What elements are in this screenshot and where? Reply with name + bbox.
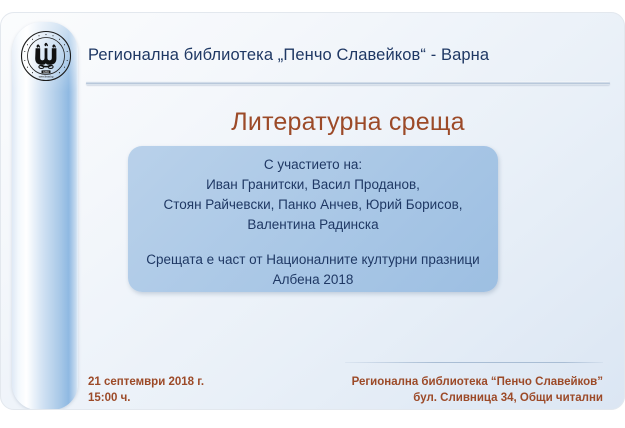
event-details-box: С участието на: Иван Гранитски, Васил Пр… [128,146,498,292]
venue-address: бул. Сливница 34, Общи читални [335,390,603,406]
footer-divider [345,362,603,363]
library-emblem-icon: 1883 www.libvar.bg [20,30,72,82]
footer-venue: Регионална библиотека “Пенчо Славейков” … [335,374,603,406]
participant-line: Валентина Радинска [128,215,498,235]
logo-url-text: www.libvar.bg [39,75,54,78]
slide-canvas: 1883 www.libvar.bg Регионална библиотека… [0,12,625,410]
participants-intro: С участието на: [128,155,498,175]
event-note-line: Албена 2018 [128,270,498,290]
venue-organization: Регионална библиотека “Пенчо Славейков” [335,374,603,390]
footer-datetime: 21 септември 2018 г. 15:00 ч. [88,374,318,406]
page-title: Регионална библиотека „Пенчо Славейков“ … [88,46,613,65]
event-note-line: Срещата е част от Националните културни … [128,250,498,270]
participant-line: Иван Гранитски, Васил Проданов, [128,175,498,195]
logo-year-text: 1883 [43,70,49,74]
event-date: 21 септември 2018 г. [88,374,318,390]
participant-line: Стоян Райчевски, Панко Анчев, Юрий Борис… [128,195,498,215]
event-heading: Литературна среща [88,108,608,137]
event-time: 15:00 ч. [88,390,318,406]
content-spacer [128,235,498,250]
header-divider [86,81,610,85]
